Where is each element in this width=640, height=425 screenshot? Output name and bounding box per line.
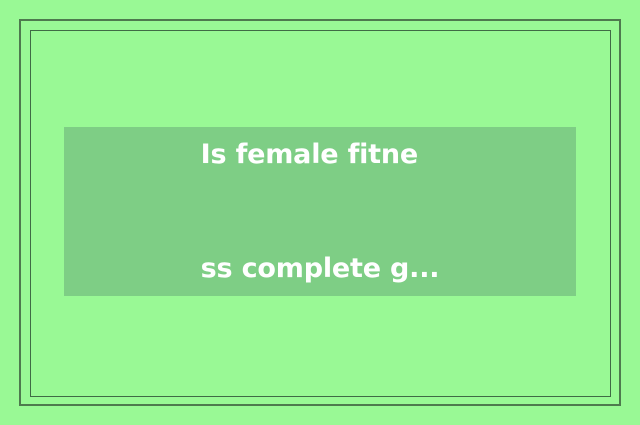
page-root: Is female fitne ss complete g... xyxy=(0,0,640,425)
card-title-line-2: ss complete g... xyxy=(201,250,440,288)
content-card: Is female fitne ss complete g... xyxy=(64,127,576,296)
card-title-line-1: Is female fitne xyxy=(201,136,440,174)
card-title: Is female fitne ss complete g... xyxy=(201,60,440,364)
